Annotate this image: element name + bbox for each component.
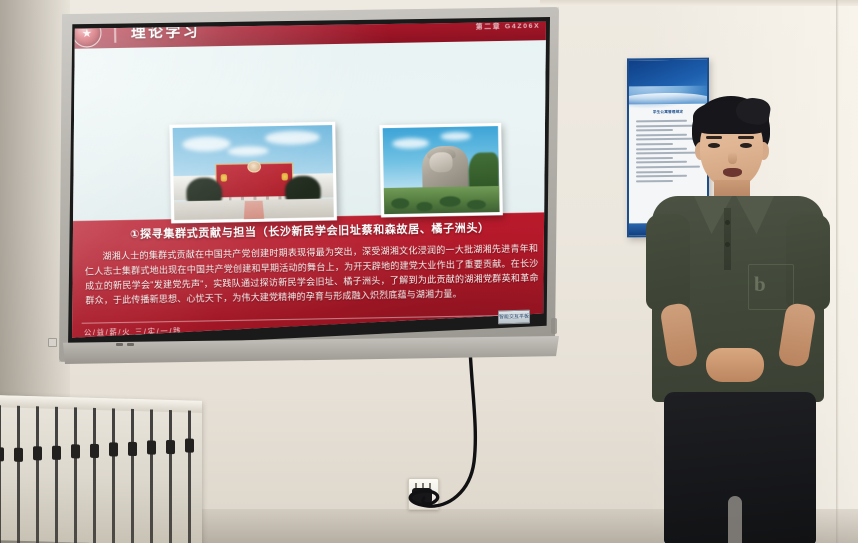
presenter-brow-right	[738, 136, 754, 139]
presenter: b	[640, 96, 836, 543]
presentation-slide: ★ 理论学习 第二章 G4Z06X	[72, 21, 546, 341]
slide-body-text: 湖湘人士的集群式贡献在中国共产党创建时期表现得最为突出，深受湖湘文化浸润的一大批…	[84, 242, 539, 309]
interactive-flat-panel[interactable]: ★ 理论学习 第二章 G4Z06X	[59, 7, 559, 362]
presenter-shorts-gap	[728, 496, 742, 543]
presenter-mouth	[723, 168, 742, 177]
photo-orange-isle-statue	[379, 123, 502, 218]
presenter-eye-right	[740, 143, 752, 148]
presenter-eye-left	[708, 143, 720, 148]
panel-control-power[interactable]	[116, 343, 123, 346]
ir-sensor-icon	[48, 338, 57, 347]
panel-side-button[interactable]	[551, 318, 557, 334]
panel-screen[interactable]: ★ 理论学习 第二章 G4Z06X	[72, 21, 546, 341]
wall-corner-edge	[836, 0, 839, 543]
panel-control-menu[interactable]	[127, 343, 134, 346]
presenter-clasped-hands	[706, 348, 764, 382]
black-power-plug[interactable]	[412, 488, 432, 505]
ceiling-edge	[540, 0, 858, 6]
presenter-brow-left	[706, 136, 722, 139]
column-radiator	[0, 395, 202, 543]
presenter-nose	[728, 152, 737, 164]
photo-memorial-building	[169, 122, 337, 224]
presenter-sleeve-left	[646, 214, 690, 310]
mao-statue-icon	[422, 146, 469, 192]
portrait-medallion-icon	[247, 161, 261, 173]
screenshot-root: 学生公寓管理规定	[0, 0, 858, 543]
panel-brand-label: 智能交互平板	[498, 310, 530, 325]
presenter-pocket-logo: b	[754, 272, 788, 302]
presenter-shirt-placket	[724, 208, 731, 270]
